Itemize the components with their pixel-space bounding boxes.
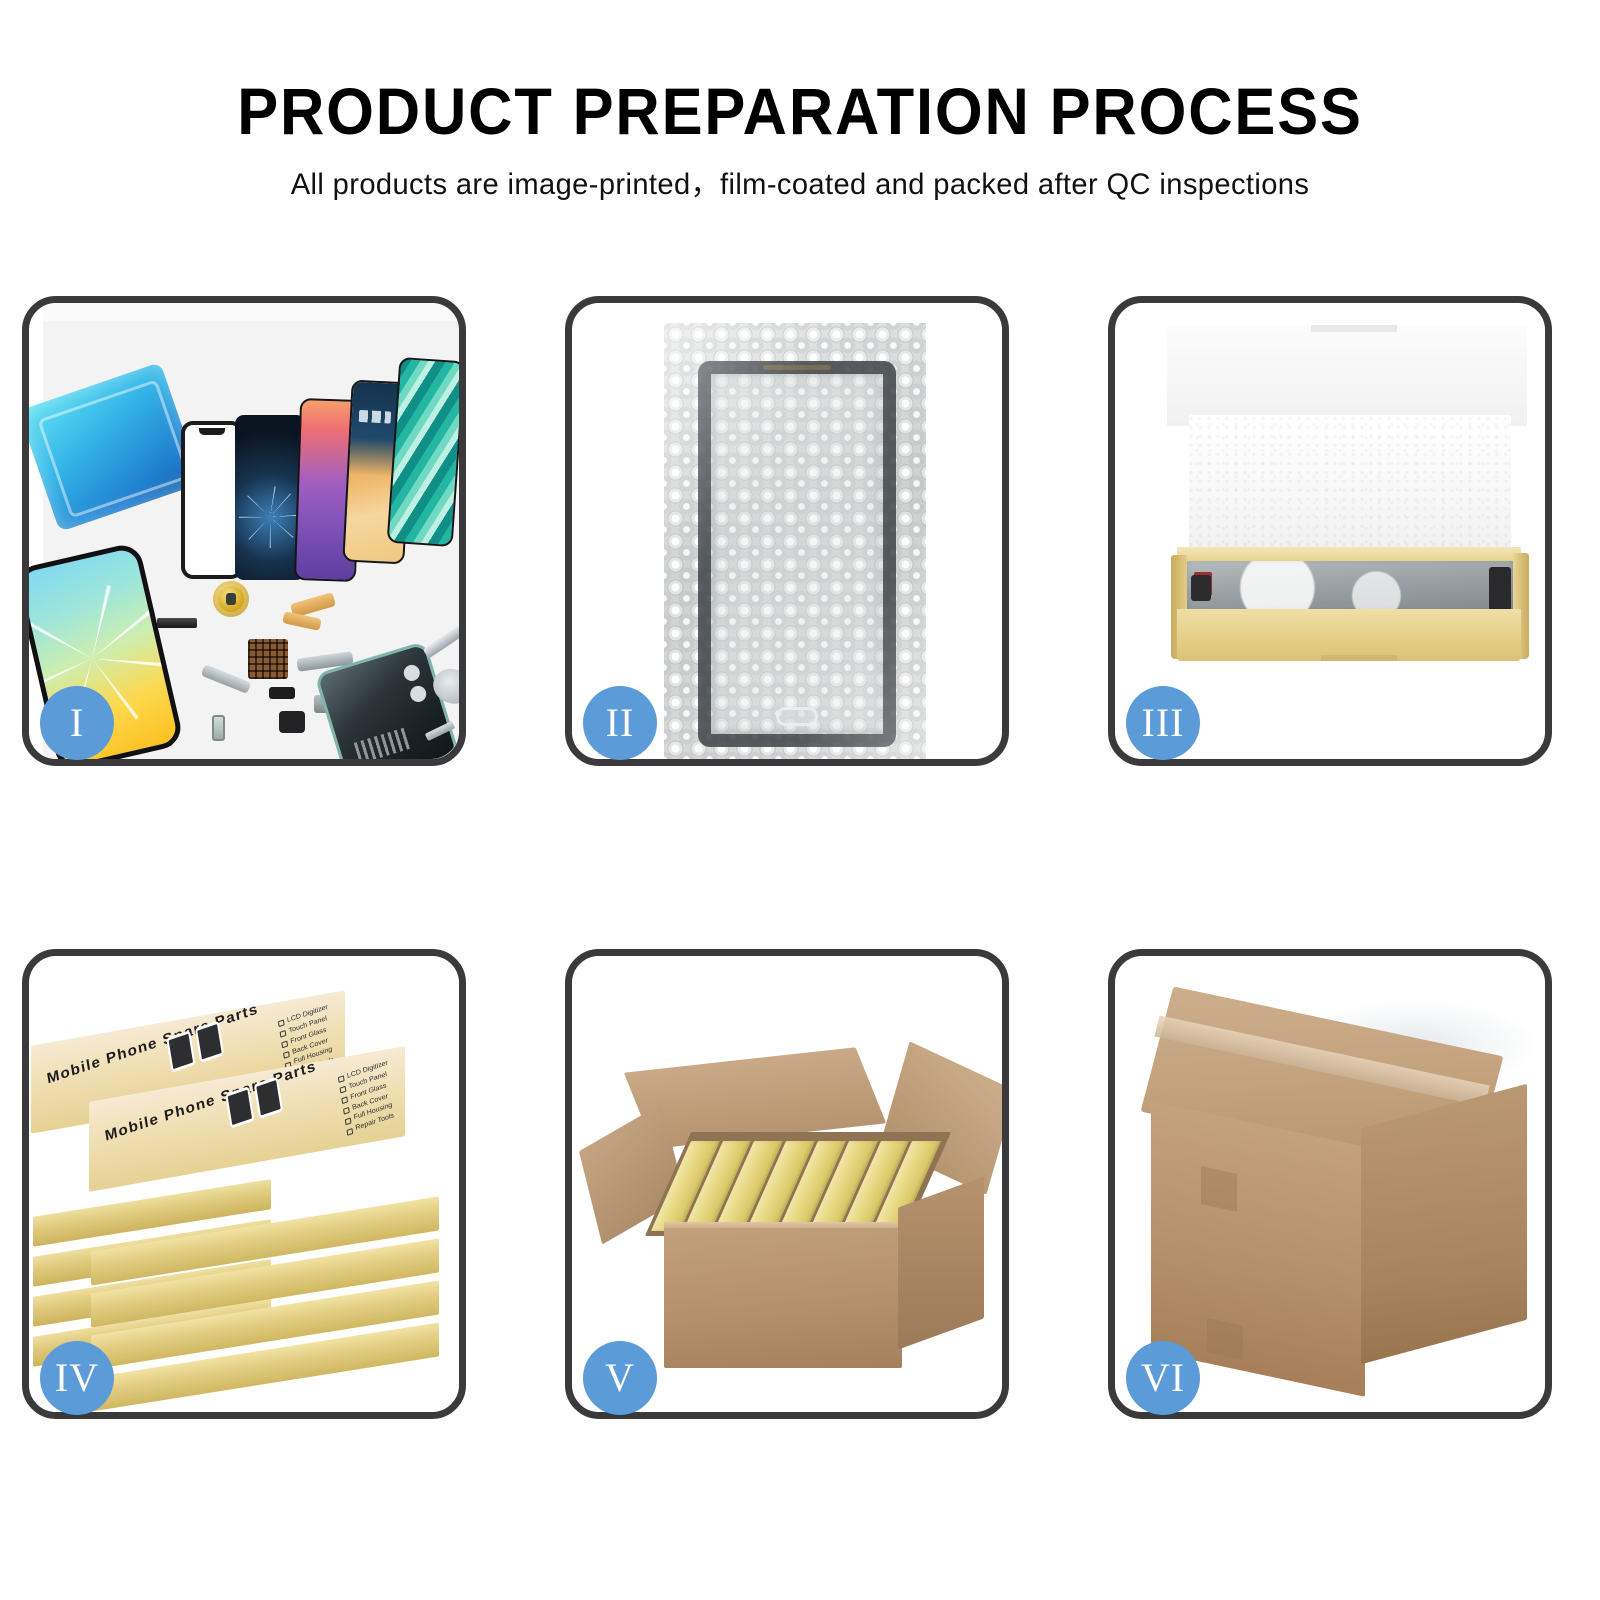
process-step-5: V [565, 949, 1009, 1419]
page-title: PRODUCT PREPARATION PROCESS [56, 78, 1544, 144]
checkbox-icon [278, 1020, 285, 1028]
ic-chip-part [248, 639, 288, 679]
carton-side-face [1361, 1084, 1527, 1364]
flex-cable-gold-2 [282, 611, 322, 631]
sealed-carton-scene [1115, 956, 1545, 1412]
adhesive-film-part [29, 362, 202, 532]
box-title: Mobile Phone Spare Parts [45, 1001, 259, 1088]
step-6-image [1115, 956, 1545, 1412]
speaker-disc-part [213, 581, 249, 617]
thumb-lcd-back [166, 1030, 195, 1072]
process-steps-grid: I II [22, 296, 1578, 1419]
flex-cable-grey-2 [201, 664, 252, 694]
wrapped-screen [698, 361, 896, 747]
checkbox-icon [338, 1076, 345, 1084]
step-badge-2: II [583, 686, 657, 760]
step-4-image: Mobile Phone Spare Parts LCD Digitizer T… [29, 956, 459, 1412]
step-5-image [572, 956, 1002, 1412]
front-glass-part [181, 421, 243, 579]
process-step-4: Mobile Phone Spare Parts LCD Digitizer T… [22, 949, 466, 1419]
checkbox-icon [343, 1107, 350, 1115]
step-badge-3: III [1126, 686, 1200, 760]
step-badge-6: VI [1126, 1341, 1200, 1415]
thumb-lcd-back [225, 1086, 254, 1128]
retail-box-stack-scene: Mobile Phone Spare Parts LCD Digitizer T… [29, 956, 459, 1412]
module-part-2 [279, 711, 305, 733]
foam-padding [1189, 415, 1511, 563]
box-front-panel [1177, 609, 1521, 661]
checkbox-icon [345, 1117, 352, 1125]
carton-tape-patch-top [1201, 1166, 1237, 1212]
page-subtitle: All products are image-printed，film-coat… [24, 170, 1576, 200]
carton-front-face [664, 1228, 902, 1368]
process-step-6: VI [1108, 949, 1552, 1419]
box-lid [1167, 325, 1527, 425]
process-step-3: III [1108, 296, 1552, 766]
checkbox-icon [340, 1086, 347, 1094]
phone-teal [387, 357, 459, 547]
process-step-2: II [565, 296, 1009, 766]
step-badge-5: V [583, 1341, 657, 1415]
open-carton-scene [572, 956, 1002, 1412]
module-part-1 [269, 687, 295, 699]
bubble-wrap-sheet [664, 323, 926, 759]
header: PRODUCT PREPARATION PROCESS All products… [0, 0, 1600, 200]
checkbox-icon [280, 1030, 287, 1038]
checkbox-icon [283, 1051, 290, 1059]
box-checklist: LCD Digitizer Touch Panel Front Glass Ba… [338, 1059, 398, 1138]
process-step-1: I [22, 296, 466, 766]
checkbox-icon [341, 1096, 348, 1104]
step-badge-4: IV [40, 1341, 114, 1415]
sim-tray-part [212, 715, 225, 741]
checkbox-icon [347, 1128, 354, 1136]
carton-side-face [898, 1176, 984, 1349]
screwdriver-tool [423, 618, 459, 658]
step-badge-1: I [40, 686, 114, 760]
earpiece-bar-part [157, 618, 197, 628]
product-preparation-infographic: PRODUCT PREPARATION PROCESS All products… [0, 0, 1600, 1600]
checkbox-icon [282, 1040, 289, 1048]
home-button [776, 707, 818, 726]
